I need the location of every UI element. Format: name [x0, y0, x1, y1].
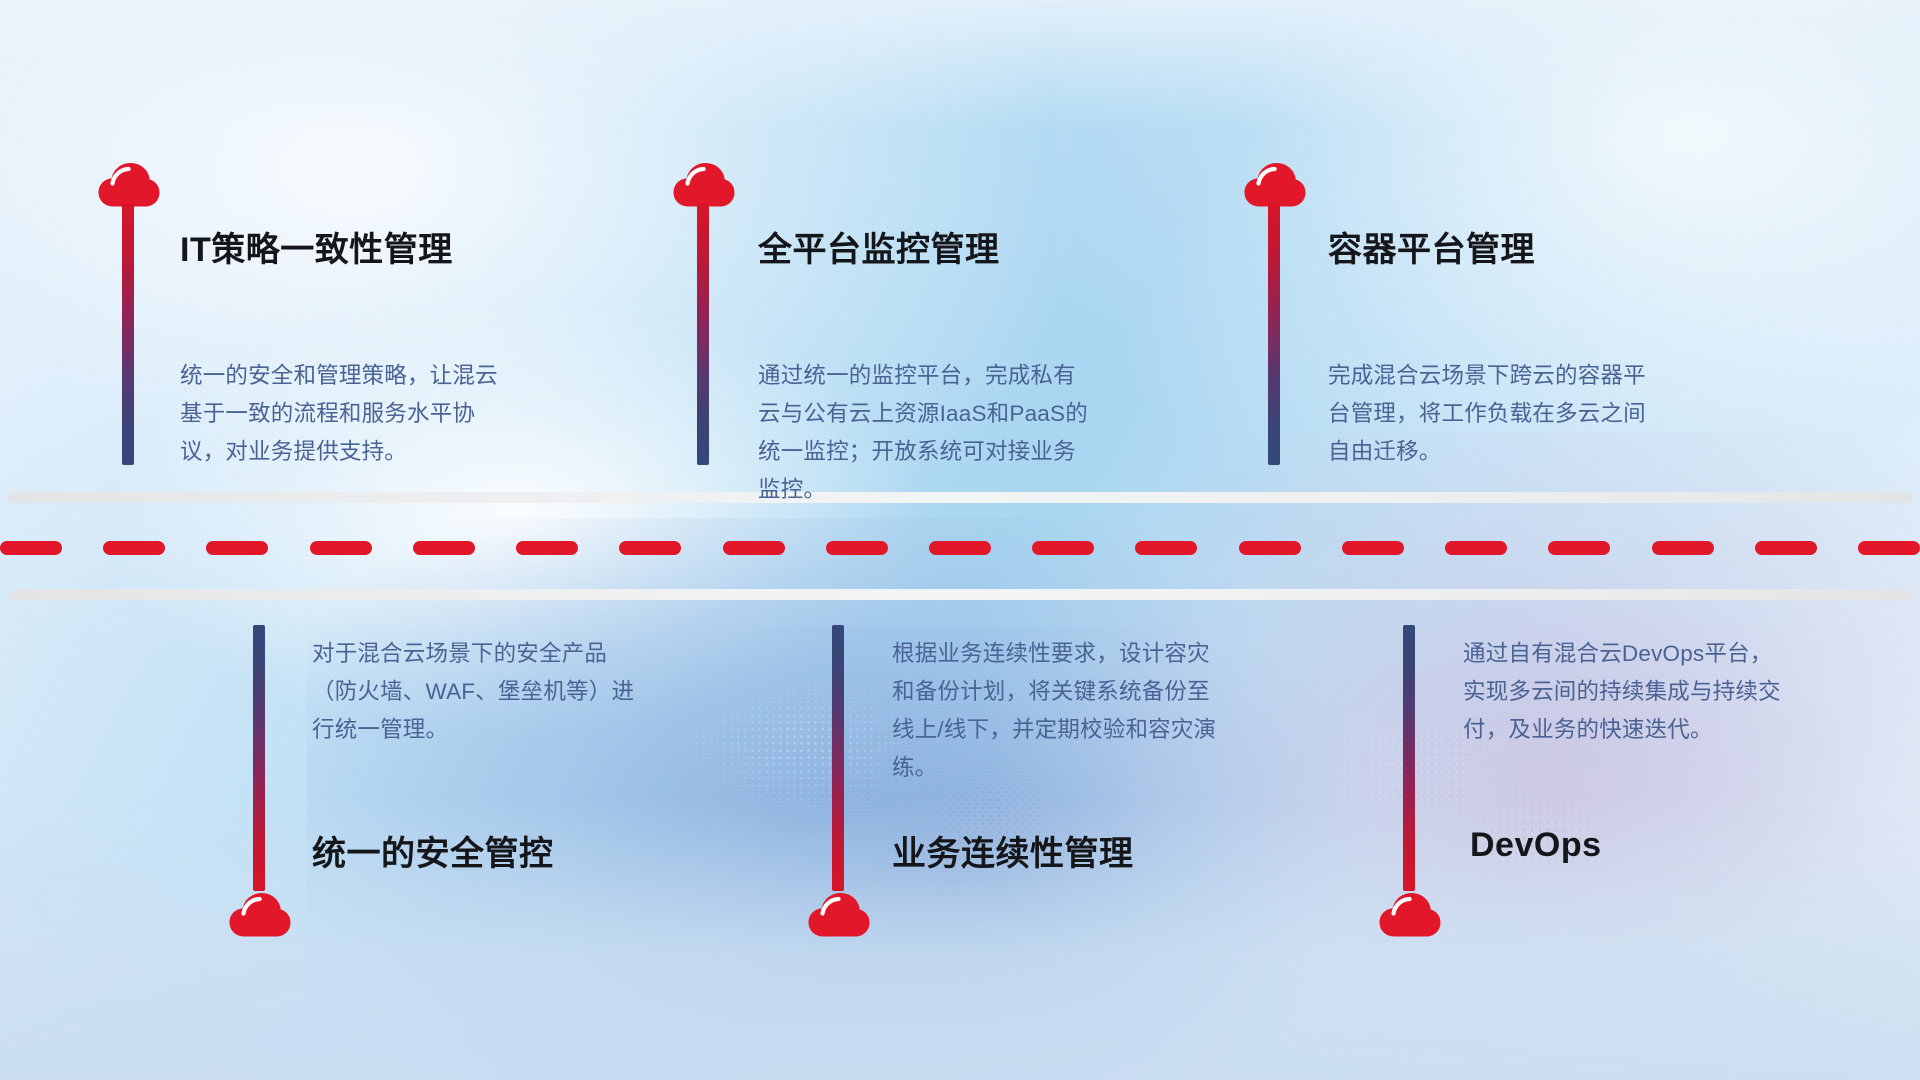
item-description: 通过统一的监控平台，完成私有云与公有云上资源IaaS和PaaS的统一监控；开放系…	[758, 357, 1088, 509]
item-title: 全平台监控管理	[758, 222, 1000, 271]
cloud-icon	[1244, 161, 1306, 207]
item-description: 统一的安全和管理策略，让混云基于一致的流程和服务水平协议，对业务提供支持。	[180, 357, 510, 471]
cloud-icon	[229, 891, 291, 937]
connector-stem	[253, 625, 265, 891]
item-title: 容器平台管理	[1328, 222, 1535, 271]
cloud-icon	[673, 161, 735, 207]
connector-stem	[832, 625, 844, 891]
item-description: 根据业务连续性要求，设计容灾和备份计划，将关键系统备份至线上/线下，并定期校验和…	[892, 635, 1222, 787]
item-description: 通过自有混合云DevOps平台，实现多云间的持续集成与持续交付，及业务的快速迭代…	[1463, 635, 1793, 749]
connector-stem	[122, 203, 134, 465]
item-title: 统一的安全管控	[312, 826, 554, 875]
item-description: 对于混合云场景下的安全产品（防火墙、WAF、堡垒机等）进行统一管理。	[312, 635, 642, 749]
connector-stem	[1403, 625, 1415, 891]
cloud-icon	[1379, 891, 1441, 937]
connector-stem	[697, 203, 709, 465]
item-title: DevOps	[1470, 826, 1602, 865]
cloud-icon	[808, 891, 870, 937]
item-title: IT策略一致性管理	[180, 222, 453, 271]
cloud-icon	[98, 161, 160, 207]
item-description: 完成混合云场景下跨云的容器平台管理，将工作负载在多云之间自由迁移。	[1328, 357, 1658, 471]
item-title: 业务连续性管理	[892, 826, 1134, 875]
connector-stem	[1268, 203, 1280, 465]
